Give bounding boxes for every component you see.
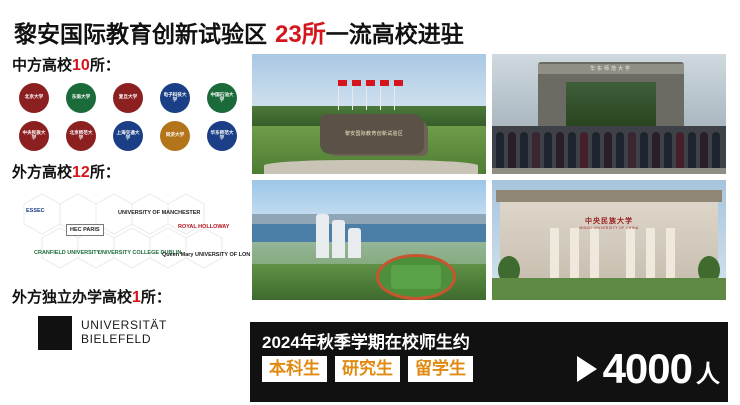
photo4-building-name-en: MINZU UNIVERSITY OF CHINA xyxy=(579,226,638,230)
foreign-logo-cranfield: CRANFIELD UNIVERSITY xyxy=(34,250,100,256)
section-foreign-label-pre: 外方高校 xyxy=(12,164,72,181)
logo-cell: 北京大学 xyxy=(12,81,56,115)
tag-international: 留学生 xyxy=(408,356,473,382)
photo4-lawn xyxy=(492,278,726,300)
section-chinese-label-post: 所： xyxy=(90,57,120,74)
title-suffix: 一流高校进驻 xyxy=(326,15,464,49)
section-foreign-label-post: 所： xyxy=(90,164,120,181)
logo-cell: 中央民族大学 xyxy=(12,119,56,153)
logo-cell: 复旦大学 xyxy=(106,81,150,115)
logo-cell: 中国石油大学 xyxy=(200,81,244,115)
university-logo-icon: 北京师范大学 xyxy=(66,121,96,151)
play-triangle-icon xyxy=(577,356,597,382)
photo3-stadium-pitch xyxy=(391,265,441,289)
logo-label: 上海交通大学 xyxy=(116,131,140,141)
logo-cell: 上海交通大学 xyxy=(106,119,150,153)
section-header-foreign: 外方高校12所： xyxy=(12,161,244,182)
logo-label: 同济大学 xyxy=(166,134,184,139)
tag-postgraduate: 研究生 xyxy=(335,356,400,382)
university-main-building-photo: 中央民族大学 MINZU UNIVERSITY OF CHINA xyxy=(490,178,728,302)
logo-label: 北京师范大学 xyxy=(69,131,93,141)
banner-headline: 2024年秋季学期在校师生约 xyxy=(262,328,470,353)
tag-undergraduate: 本科生 xyxy=(262,356,327,382)
bielefeld-logo-text: UNIVERSITÄT BIELEFELD xyxy=(81,319,167,347)
section-independent-label-pre: 外方独立办学高校 xyxy=(12,289,132,306)
university-logo-icon: 北京大学 xyxy=(19,83,49,113)
foreign-university-logo-group: ESSEC HEC PARIS UNIVERSITY OF MANCHESTER… xyxy=(12,188,244,280)
photo2-graduates-row xyxy=(492,126,726,174)
university-logo-icon: 华东师范大学 xyxy=(207,121,237,151)
left-column: 中方高校10所： 北京大学 东南大学 复旦大学 电子科技大学 中国石油大学 中央… xyxy=(12,54,244,350)
logo-label: 电子科技大学 xyxy=(163,93,187,103)
foreign-logo-hec: HEC PARIS xyxy=(66,224,104,236)
bielefeld-square-icon xyxy=(38,316,72,350)
section-chinese-label-pre: 中方高校 xyxy=(12,57,72,74)
logo-label: 中央民族大学 xyxy=(22,131,46,141)
photo1-monument-caption: 黎安国际教育创新试验区 xyxy=(328,130,420,137)
university-logo-icon: 上海交通大学 xyxy=(113,121,143,151)
logo-cell: 华东师范大学 xyxy=(200,119,244,153)
bielefeld-line1: UNIVERSITÄT xyxy=(81,319,167,333)
photo4-building-name: 中央民族大学 xyxy=(585,216,633,226)
logo-label: 华东师范大学 xyxy=(210,131,234,141)
hex-pattern-icon xyxy=(12,188,244,280)
student-count-display: 4000 人 xyxy=(577,348,720,390)
logo-label: 中国石油大学 xyxy=(210,93,234,103)
logo-label: 北京大学 xyxy=(25,96,43,101)
foreign-logo-manchester: UNIVERSITY OF MANCHESTER xyxy=(118,210,200,216)
logo-cell: 同济大学 xyxy=(153,119,197,153)
bielefeld-line2: BIELEFELD xyxy=(81,333,167,347)
photo4-roof xyxy=(496,190,722,202)
university-logo-icon: 复旦大学 xyxy=(113,83,143,113)
university-logo-icon: 中央民族大学 xyxy=(19,121,49,151)
photo1-flagpoles xyxy=(338,80,408,110)
photo4-building xyxy=(500,196,718,278)
section-independent-count: 1 xyxy=(132,289,141,306)
photo1-path xyxy=(264,160,478,174)
university-logo-icon: 电子科技大学 xyxy=(160,83,190,113)
page-title: 黎安国际教育创新试验区 23所 一流高校进驻 xyxy=(14,14,464,49)
photo2-gate-caption: 华东师范大学 xyxy=(538,64,684,74)
logo-label: 复旦大学 xyxy=(119,96,137,101)
photo3-towers xyxy=(316,214,370,258)
logo-cell: 东南大学 xyxy=(59,81,103,115)
student-count-unit: 人 xyxy=(696,363,720,390)
photo2-ground xyxy=(492,168,726,174)
university-logo-icon: 中国石油大学 xyxy=(207,83,237,113)
section-header-chinese: 中方高校10所： xyxy=(12,54,244,75)
aerial-campus-stadium-photo xyxy=(250,178,488,302)
section-chinese-count: 10 xyxy=(72,57,90,74)
logo-cell: 电子科技大学 xyxy=(153,81,197,115)
chinese-university-logo-grid: 北京大学 东南大学 复旦大学 电子科技大学 中国石油大学 中央民族大学 北京师范… xyxy=(12,81,244,153)
foreign-logo-essec: ESSEC xyxy=(26,208,45,214)
photo3-stadium xyxy=(376,254,456,300)
foreign-logo-queen-mary: Queen Mary UNIVERSITY OF LONDON xyxy=(162,252,262,258)
section-independent-label-post: 所： xyxy=(141,289,171,306)
logo-cell: 北京师范大学 xyxy=(59,119,103,153)
foreign-logo-royal-holloway: ROYAL HOLLOWAY xyxy=(178,224,229,230)
student-type-tags: 本科生 研究生 留学生 xyxy=(262,356,473,382)
title-count: 23所 xyxy=(275,14,326,49)
slide-root: 黎安国际教育创新试验区 23所 一流高校进驻 中方高校10所： 北京大学 东南大… xyxy=(0,0,740,405)
section-foreign-count: 12 xyxy=(72,164,90,181)
campus-monument-photo: 黎安国际教育创新试验区 xyxy=(250,52,488,176)
university-logo-icon: 同济大学 xyxy=(160,121,190,151)
campus-gate-graduates-photo: 华东师范大学 xyxy=(490,52,728,176)
logo-label: 东南大学 xyxy=(72,96,90,101)
bielefeld-logo: UNIVERSITÄT BIELEFELD xyxy=(38,316,244,350)
photo2-gate-opening xyxy=(566,82,656,128)
section-header-independent: 外方独立办学高校1所： xyxy=(12,286,244,307)
student-count-value: 4000 xyxy=(603,348,692,390)
title-prefix: 黎安国际教育创新试验区 xyxy=(14,15,267,49)
statistics-banner: 2024年秋季学期在校师生约 本科生 研究生 留学生 4000 人 xyxy=(250,322,728,402)
university-logo-icon: 东南大学 xyxy=(66,83,96,113)
